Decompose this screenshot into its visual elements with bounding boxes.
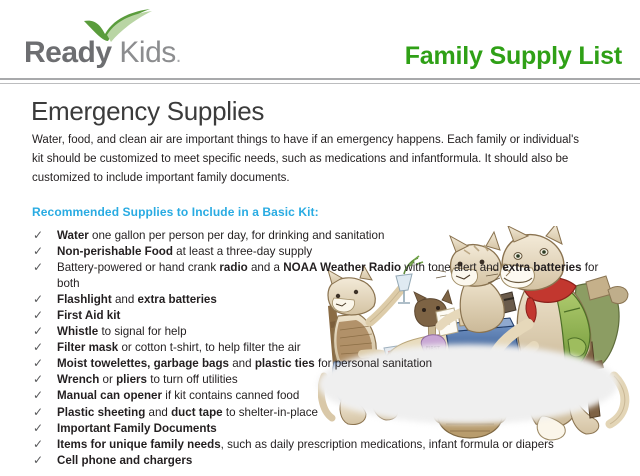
supply-term: Manual can opener bbox=[57, 389, 162, 402]
list-item: ✓ Filter mask or cotton t-shirt, to help… bbox=[32, 340, 612, 356]
check-icon: ✓ bbox=[33, 453, 45, 467]
supply-term: Whistle bbox=[57, 325, 98, 338]
supply-term: Plastic sheeting bbox=[57, 406, 145, 419]
logo-word-ready: Ready bbox=[24, 36, 112, 69]
list-item: ✓ Cell phone and chargers bbox=[32, 453, 612, 469]
intro-paragraph: Water, food, and clean air are important… bbox=[32, 131, 580, 188]
supply-term: Non-perishable Food bbox=[57, 245, 173, 258]
supply-detail: and bbox=[229, 357, 255, 370]
check-icon: ✓ bbox=[33, 356, 45, 370]
supply-term: Wrench bbox=[57, 373, 99, 386]
check-icon: ✓ bbox=[33, 340, 45, 354]
supply-term: Filter mask bbox=[57, 341, 118, 354]
check-icon: ✓ bbox=[33, 228, 45, 242]
main-content: Emergency Supplies Water, food, and clea… bbox=[0, 86, 640, 476]
divider-line-bottom bbox=[0, 83, 640, 84]
list-item: ✓ Moist towelettes, garbage bags and pla… bbox=[32, 356, 612, 372]
page-title: Family Supply List bbox=[405, 42, 622, 71]
supply-detail: or cotton t-shirt, to help filter the ai… bbox=[118, 341, 300, 354]
list-item: ✓ Items for unique family needs, such as… bbox=[32, 437, 612, 453]
divider-line-top bbox=[0, 78, 640, 80]
check-icon: ✓ bbox=[33, 421, 45, 435]
check-icon: ✓ bbox=[33, 244, 45, 258]
supply-detail: Battery-powered or hand crank bbox=[57, 261, 219, 274]
supply-term: extra batteries bbox=[502, 261, 581, 274]
list-item: ✓ Whistle to signal for help bbox=[32, 324, 612, 340]
supply-term: First Aid kit bbox=[57, 309, 120, 322]
supply-term: NOAA Weather Radio bbox=[283, 261, 401, 274]
supply-detail: or bbox=[99, 373, 116, 386]
supply-detail: to signal for help bbox=[98, 325, 186, 338]
ready-kids-logo[interactable]: Ready Kids. bbox=[24, 6, 234, 72]
check-icon: ✓ bbox=[33, 405, 45, 419]
supply-term: pliers bbox=[116, 373, 147, 386]
recommended-supplies-heading: Recommended Supplies to Include in a Bas… bbox=[32, 205, 319, 219]
check-icon: ✓ bbox=[33, 292, 45, 306]
supply-detail: to turn off utilities bbox=[147, 373, 238, 386]
list-item: ✓ Flashlight and extra batteries bbox=[32, 292, 612, 308]
list-item: ✓ First Aid kit bbox=[32, 308, 612, 324]
supply-term: Moist towelettes, garbage bags bbox=[57, 357, 229, 370]
supply-term: plastic ties bbox=[255, 357, 315, 370]
section-heading: Emergency Supplies bbox=[31, 96, 264, 127]
check-icon: ✓ bbox=[33, 388, 45, 402]
supply-detail: to shelter-in-place bbox=[223, 406, 318, 419]
check-icon: ✓ bbox=[33, 437, 45, 451]
logo-trademark-dot: . bbox=[176, 45, 181, 67]
supply-detail: and bbox=[145, 406, 171, 419]
check-icon: ✓ bbox=[33, 372, 45, 386]
logo-wordmark: Ready Kids. bbox=[24, 36, 181, 73]
supply-term: Items for unique family needs bbox=[57, 438, 221, 451]
supply-term: Important Family Documents bbox=[57, 422, 217, 435]
supply-list: ✓ Water one gallon per person per day, f… bbox=[32, 228, 612, 469]
supply-term: duct tape bbox=[171, 406, 223, 419]
supply-term: extra batteries bbox=[138, 293, 217, 306]
supply-term: radio bbox=[219, 261, 247, 274]
list-item: ✓ Important Family Documents bbox=[32, 421, 612, 437]
supply-detail: with tone alert and bbox=[401, 261, 502, 274]
list-item: ✓ Manual can opener if kit contains cann… bbox=[32, 388, 612, 404]
check-icon: ✓ bbox=[33, 324, 45, 338]
list-item: ✓ Plastic sheeting and duct tape to shel… bbox=[32, 405, 612, 421]
list-item: ✓ Water one gallon per person per day, f… bbox=[32, 228, 612, 244]
supply-term: Water bbox=[57, 229, 89, 242]
supply-detail: if kit contains canned food bbox=[162, 389, 299, 402]
page-header: Ready Kids. Family Supply List bbox=[0, 0, 640, 78]
check-icon: ✓ bbox=[33, 308, 45, 322]
supply-detail: , such as daily prescription medications… bbox=[221, 438, 554, 451]
supply-detail: for personal sanitation bbox=[315, 357, 432, 370]
supply-detail: and a bbox=[248, 261, 283, 274]
supply-detail: and bbox=[112, 293, 138, 306]
check-icon: ✓ bbox=[33, 260, 45, 274]
supply-term: Cell phone and chargers bbox=[57, 454, 192, 467]
header-divider bbox=[0, 78, 640, 85]
list-item: ✓ Non-perishable Food at least a three-d… bbox=[32, 244, 612, 260]
logo-word-kids: Kids bbox=[119, 36, 175, 69]
list-item: ✓ Wrench or pliers to turn off utilities bbox=[32, 372, 612, 388]
supply-detail: at least a three-day supply bbox=[173, 245, 312, 258]
supply-term: Flashlight bbox=[57, 293, 112, 306]
list-item: ✓ Battery-powered or hand crank radio an… bbox=[32, 260, 612, 291]
supply-detail: one gallon per person per day, for drink… bbox=[89, 229, 385, 242]
